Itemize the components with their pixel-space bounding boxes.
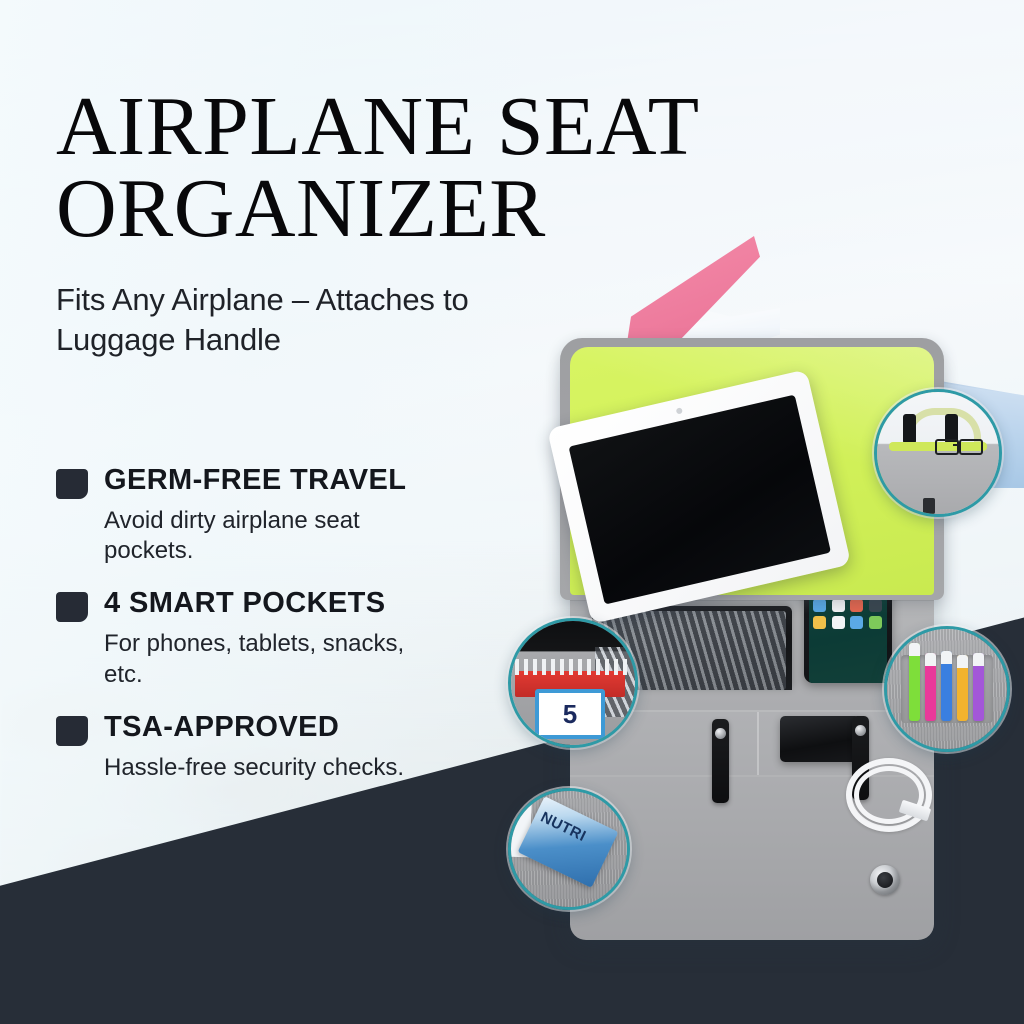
spiral-binding-icon: [515, 659, 631, 675]
feature-title: TSA-APPROVED: [104, 712, 339, 742]
snack-brand-line-1: NUTRI: [538, 810, 588, 845]
callout-handle-glasses: Luggage handle strap with glasses pocket: [874, 389, 1002, 517]
headline-line-2: ORGANIZER: [56, 170, 776, 248]
bullet-square-icon: [56, 469, 88, 499]
bullet-square-icon: [56, 716, 88, 746]
feature-title: GERM-FREE TRAVEL: [104, 465, 406, 495]
app-icon: [813, 599, 826, 612]
bullet-square-icon: [56, 592, 88, 622]
eyeglasses-icon: [935, 436, 987, 454]
number-card: 5: [535, 689, 605, 739]
app-icon: [850, 599, 863, 612]
app-icon: [850, 616, 863, 629]
tablet-screen: [569, 395, 831, 605]
phone-app-grid: [813, 599, 883, 629]
pen-purple: [973, 653, 984, 721]
page-subtitle: Fits Any Airplane – Attaches to Luggage …: [56, 280, 596, 361]
bottom-tab: [923, 498, 935, 514]
pen-yellow: [957, 655, 968, 721]
pen-green: [909, 643, 920, 721]
product-infographic: AIRPLANE SEAT ORGANIZER Fits Any Airplan…: [0, 0, 1024, 1024]
feature-description: Hassle-free security checks.: [104, 753, 434, 783]
snap-button-icon: [855, 725, 866, 736]
feature-description: For phones, tablets, snacks, etc.: [104, 629, 434, 689]
app-icon: [832, 599, 845, 612]
app-icon: [813, 616, 826, 629]
handle-strap-left: [903, 414, 916, 444]
feature-title: 4 SMART POCKETS: [104, 588, 386, 618]
tablet-camera: [676, 407, 683, 414]
app-icon: [832, 616, 845, 629]
card-number: 5: [563, 699, 577, 730]
phone-screen: [809, 589, 887, 683]
metal-grommet: [870, 865, 900, 895]
app-icon: [869, 616, 882, 629]
app-icon: [869, 599, 882, 612]
coiled-usb-cable: [844, 756, 940, 834]
pen-pink: [925, 653, 936, 721]
strap-loop-left: [712, 719, 729, 803]
callout-pens: Pen and marker slots: [884, 626, 1010, 752]
feature-list: GERM-FREE TRAVEL Avoid dirty airplane se…: [56, 465, 526, 805]
callout-notebook: 5 Notebook pocket: [508, 618, 638, 748]
callout-snack: NUTRI Snack bar pocket: [508, 788, 630, 910]
page-title: AIRPLANE SEAT ORGANIZER: [56, 88, 776, 248]
headline-line-1: AIRPLANE SEAT: [56, 88, 776, 166]
pen-blue: [941, 651, 952, 721]
feature-description: Avoid dirty airplane seat pockets.: [104, 506, 434, 566]
feature-item-tsa-approved: TSA-APPROVED Hassle-free security checks…: [56, 712, 526, 783]
feature-item-germ-free: GERM-FREE TRAVEL Avoid dirty airplane se…: [56, 465, 526, 566]
snap-button-icon: [715, 728, 726, 739]
feature-item-smart-pockets: 4 SMART POCKETS For phones, tablets, sna…: [56, 588, 526, 689]
